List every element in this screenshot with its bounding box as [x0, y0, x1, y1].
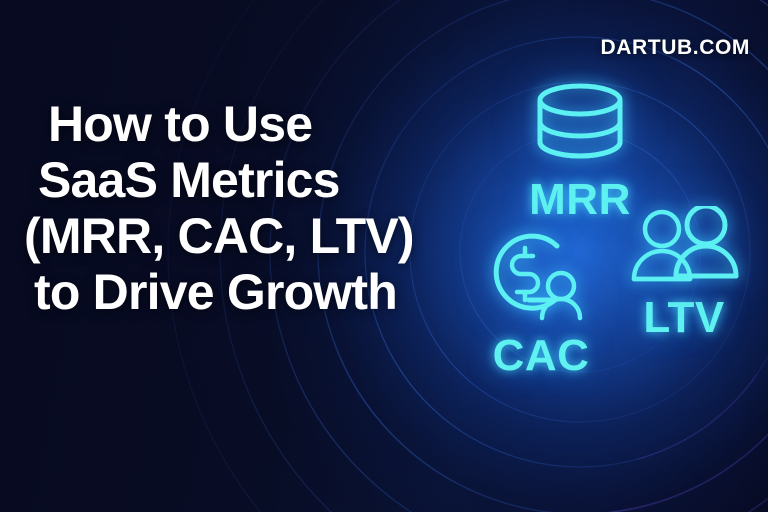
metric-ltv-label: LTV [614, 295, 754, 341]
metric-cac-label: CAC [466, 333, 616, 379]
metric-mrr: MRR [500, 82, 660, 223]
title-line-1: How to Use [24, 96, 424, 152]
thumbnail-canvas: DARTUB.COM How to Use SaaS Metrics (MRR,… [0, 0, 768, 512]
two-people-icon [614, 206, 754, 293]
metric-ltv: LTV [614, 206, 754, 341]
title-line-3: (MRR, CAC, LTV) [24, 208, 424, 264]
metric-cac: CAC [466, 228, 616, 379]
database-cylinder-icon [500, 82, 660, 173]
dollar-circle-person-icon [466, 228, 616, 331]
title-line-2: SaaS Metrics [24, 152, 424, 208]
watermark-site-url: DARTUB.COM [601, 36, 750, 60]
title-line-4: to Drive Growth [24, 264, 424, 320]
page-title: How to Use SaaS Metrics (MRR, CAC, LTV) … [24, 96, 424, 320]
